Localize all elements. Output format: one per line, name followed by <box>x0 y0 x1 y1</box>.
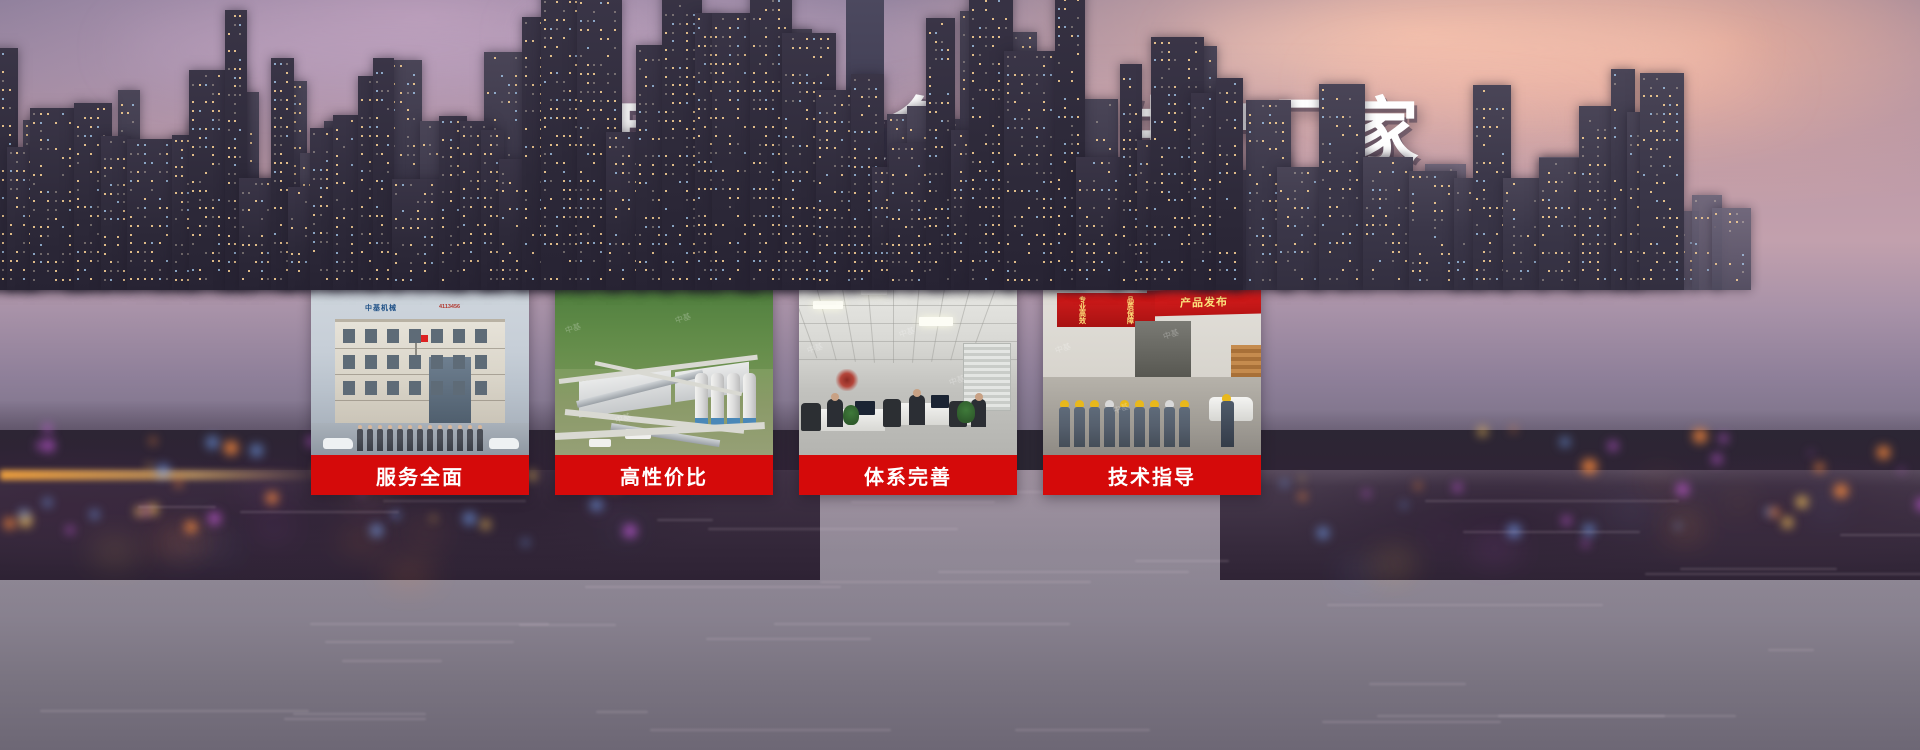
window-light <box>97 144 99 146</box>
window-light <box>40 191 42 193</box>
window-light <box>1392 233 1394 235</box>
window-light <box>2 215 4 217</box>
window-light <box>234 200 236 202</box>
window-light <box>1663 130 1665 132</box>
window-light <box>896 119 898 121</box>
window-light <box>413 154 415 156</box>
window-light <box>679 23 681 25</box>
window-light <box>501 75 503 77</box>
window-light <box>33 261 35 263</box>
window-light <box>580 180 582 182</box>
window-light <box>1715 263 1717 265</box>
window-light <box>614 118 616 120</box>
window-light <box>376 135 378 137</box>
window-light <box>457 147 459 149</box>
window-light <box>772 278 774 280</box>
window-light <box>686 155 688 157</box>
window-light <box>286 81 288 83</box>
window-light <box>848 200 850 202</box>
window-light <box>40 139 42 141</box>
window-light <box>218 93 220 95</box>
window-light <box>166 171 168 173</box>
window-light <box>1604 243 1606 245</box>
window-light <box>1434 176 1436 178</box>
window-light <box>212 207 214 209</box>
window-light <box>1294 269 1296 271</box>
window-light <box>255 200 257 202</box>
window-light <box>1589 181 1591 183</box>
window-light <box>1489 207 1491 209</box>
window-light <box>679 243 681 245</box>
window-light <box>502 173 504 175</box>
window-light <box>1614 198 1616 200</box>
window-light <box>765 72 767 74</box>
window-light <box>291 218 293 220</box>
window-light <box>628 172 630 174</box>
window-light <box>137 278 139 280</box>
window-light <box>305 235 307 237</box>
window-light <box>704 45 706 47</box>
window-light <box>609 269 611 271</box>
window-light <box>26 134 28 136</box>
window-light <box>274 242 276 244</box>
window-light <box>532 93 534 95</box>
window-light <box>457 130 459 132</box>
window-light <box>1669 104 1671 106</box>
window-light <box>1483 198 1485 200</box>
window-light <box>854 218 856 220</box>
window-light <box>23 215 25 217</box>
window-light <box>525 84 527 86</box>
window-light <box>799 91 801 93</box>
window-light <box>729 99 731 101</box>
window-light <box>525 128 527 130</box>
window-light <box>1663 226 1665 228</box>
window-light <box>698 152 700 154</box>
window-light <box>563 180 565 182</box>
window-light <box>1385 189 1387 191</box>
window-light <box>834 104 836 106</box>
window-light <box>813 278 815 280</box>
window-light <box>819 226 821 228</box>
window-light <box>848 121 850 123</box>
window-light <box>326 205 328 207</box>
window-light <box>1574 190 1576 192</box>
window-light <box>778 197 780 199</box>
window-light <box>1561 252 1563 254</box>
window-light <box>376 99 378 101</box>
window-light <box>556 144 558 146</box>
window-light <box>550 37 552 39</box>
window-light <box>556 162 558 164</box>
window-light <box>10 260 12 262</box>
window-light <box>532 252 534 254</box>
window-light <box>55 148 57 150</box>
window-light <box>759 162 761 164</box>
window-light <box>1604 137 1606 139</box>
window-light <box>387 108 389 110</box>
window-light <box>239 85 241 87</box>
window-light <box>665 76 667 78</box>
window-light <box>1701 217 1703 219</box>
window-light <box>47 235 49 237</box>
window-light <box>593 11 595 13</box>
window-light <box>294 173 296 175</box>
window-light <box>199 199 201 201</box>
window-light <box>494 119 496 121</box>
window-light <box>515 75 517 77</box>
window-light <box>1322 116 1324 118</box>
window-light <box>792 82 794 84</box>
window-light <box>848 165 850 167</box>
window-light <box>556 99 558 101</box>
window-light <box>423 144 425 146</box>
window-light <box>686 84 688 86</box>
window-light <box>792 269 794 271</box>
window-light <box>737 260 739 262</box>
window-light <box>77 269 79 271</box>
window-light <box>890 119 892 121</box>
window-light <box>218 163 220 165</box>
window-light <box>861 226 863 228</box>
window-light <box>1419 176 1421 178</box>
window-light <box>1269 114 1271 116</box>
window-light <box>413 74 415 76</box>
window-light <box>737 215 739 217</box>
window-light <box>110 218 112 220</box>
window-light <box>813 136 815 138</box>
window-light <box>1392 260 1394 262</box>
window-light <box>1676 217 1678 219</box>
window-light <box>737 197 739 199</box>
window-light <box>23 242 25 244</box>
window-light <box>729 188 731 190</box>
window-light <box>1568 270 1570 272</box>
window-light <box>166 260 168 262</box>
window-light <box>698 18 700 20</box>
window-light <box>834 130 836 132</box>
window-light <box>463 135 465 137</box>
window-light <box>645 155 647 157</box>
window-light <box>544 37 546 39</box>
window-light <box>1426 262 1428 264</box>
window-light <box>550 243 552 245</box>
window-light <box>166 180 168 182</box>
window-light <box>336 199 338 201</box>
window-light <box>729 278 731 280</box>
window-light <box>442 156 444 158</box>
window-light <box>1398 189 1400 191</box>
window-light <box>77 180 79 182</box>
window-light <box>1656 139 1658 141</box>
window-light <box>1294 243 1296 245</box>
window-light <box>652 243 654 245</box>
window-light <box>525 57 527 59</box>
window-light <box>854 88 856 90</box>
window-light <box>715 126 717 128</box>
window-light <box>166 234 168 236</box>
window-light <box>457 165 459 167</box>
window-light <box>1249 200 1251 202</box>
window-light <box>23 179 25 181</box>
window-light <box>477 144 479 146</box>
window-light <box>1542 199 1544 201</box>
window-light <box>532 84 534 86</box>
window-light <box>834 226 836 228</box>
window-light <box>117 193 119 195</box>
window-light <box>1676 87 1678 89</box>
window-light <box>600 91 602 93</box>
window-light <box>544 234 546 236</box>
window-light <box>715 117 717 119</box>
window-light <box>69 157 71 159</box>
window-light <box>698 215 700 217</box>
window-light <box>205 137 207 139</box>
window-light <box>772 153 774 155</box>
window-light <box>1294 198 1296 200</box>
window-light <box>175 244 177 246</box>
window-light <box>902 119 904 121</box>
window-light <box>361 251 363 253</box>
window-light <box>813 225 815 227</box>
window-light <box>639 94 641 96</box>
window-light <box>772 126 774 128</box>
window-light <box>351 208 353 210</box>
window-light <box>104 270 106 272</box>
window-light <box>698 251 700 253</box>
window-light <box>1372 198 1374 200</box>
window-light <box>502 217 504 219</box>
window-light <box>2 107 4 109</box>
window-light <box>715 36 717 38</box>
window-light <box>792 260 794 262</box>
window-light <box>144 153 146 155</box>
window-light <box>144 144 146 146</box>
window-light <box>813 118 815 120</box>
window-light <box>854 183 856 185</box>
window-light <box>417 253 419 255</box>
window-light <box>192 146 194 148</box>
window-light <box>826 139 828 141</box>
window-light <box>737 108 739 110</box>
window-light <box>336 138 338 140</box>
window-light <box>2 98 4 100</box>
window-light <box>1269 148 1271 150</box>
window-light <box>450 174 452 176</box>
window-light <box>343 270 345 272</box>
window-light <box>450 235 452 237</box>
window-light <box>274 162 276 164</box>
window-light <box>587 73 589 75</box>
window-light <box>442 209 444 211</box>
window-light <box>580 73 582 75</box>
window-light <box>23 278 25 280</box>
window-light <box>785 260 787 262</box>
window-light <box>77 278 79 280</box>
window-light <box>326 187 328 189</box>
window-light <box>199 181 201 183</box>
building <box>333 115 360 290</box>
window-light <box>123 201 125 203</box>
window-light <box>765 215 767 217</box>
window-light <box>395 279 397 281</box>
window-light <box>665 58 667 60</box>
window-light <box>1457 209 1459 211</box>
window-light <box>1597 137 1599 139</box>
window-light <box>799 207 801 209</box>
window-light <box>698 260 700 262</box>
window-light <box>199 84 201 86</box>
window-light <box>1513 278 1515 280</box>
window-light <box>181 140 183 142</box>
window-light <box>1555 270 1557 272</box>
window-light <box>715 152 717 154</box>
window-light <box>484 180 486 182</box>
window-light <box>658 278 660 280</box>
window-light <box>1426 176 1428 178</box>
window-light <box>737 269 739 271</box>
window-light <box>361 144 363 146</box>
window-light <box>181 279 183 281</box>
window-light <box>841 217 843 219</box>
window-light <box>1356 278 1358 280</box>
window-light <box>457 244 459 246</box>
window-light <box>159 198 161 200</box>
window-light <box>1342 134 1344 136</box>
window-light <box>665 155 667 157</box>
window-light <box>792 100 794 102</box>
window-light <box>963 16 965 18</box>
window-light <box>785 251 787 253</box>
window-light <box>212 101 214 103</box>
window-light <box>607 100 609 102</box>
window-light <box>1620 278 1622 280</box>
window-light <box>792 233 794 235</box>
window-light <box>819 235 821 237</box>
window-light <box>729 45 731 47</box>
window-light <box>614 11 616 13</box>
window-light <box>799 242 801 244</box>
window-light <box>563 99 565 101</box>
window-light <box>544 225 546 227</box>
window-light <box>1412 176 1414 178</box>
window-light <box>580 55 582 57</box>
window-light <box>1262 105 1264 107</box>
window-light <box>450 270 452 272</box>
window-light <box>1476 126 1478 128</box>
window-light <box>234 112 236 114</box>
window-light <box>130 180 132 182</box>
window-light <box>665 243 667 245</box>
window-light <box>1555 181 1557 183</box>
window-light <box>622 172 624 174</box>
window-light <box>658 226 660 228</box>
window-light <box>424 193 426 195</box>
window-light <box>785 269 787 271</box>
window-light <box>280 99 282 101</box>
window-light <box>69 165 71 167</box>
window-light <box>1280 251 1282 253</box>
window-light <box>1650 191 1652 193</box>
window-light <box>199 137 201 139</box>
window-light <box>1262 279 1264 281</box>
window-light <box>303 167 305 169</box>
window-light <box>1322 179 1324 181</box>
window-light <box>1542 252 1544 254</box>
window-light <box>407 92 409 94</box>
window-light <box>55 270 57 272</box>
window-light <box>1707 252 1709 254</box>
window-light <box>442 217 444 219</box>
window-light <box>1329 242 1331 244</box>
window-light <box>1630 135 1632 137</box>
window-light <box>556 28 558 30</box>
window-light <box>40 226 42 228</box>
window-light <box>1676 113 1678 115</box>
window-light <box>672 128 674 130</box>
window-light <box>826 209 828 211</box>
window-light <box>609 260 611 262</box>
window-light <box>294 95 296 97</box>
window-light <box>792 74 794 76</box>
window-light <box>854 270 856 272</box>
window-light <box>813 56 815 58</box>
window-light <box>737 18 739 20</box>
window-light <box>532 146 534 148</box>
window-light <box>1729 230 1731 232</box>
window-light <box>516 208 518 210</box>
window-light <box>686 146 688 148</box>
window-light <box>212 163 214 165</box>
window-light <box>442 279 444 281</box>
window-light <box>261 235 263 237</box>
window-light <box>1589 120 1591 122</box>
window-light <box>515 92 517 94</box>
window-light <box>1329 116 1331 118</box>
window-light <box>97 260 99 262</box>
window-light <box>250 133 252 135</box>
window-light <box>1604 129 1606 131</box>
window-light <box>33 270 35 272</box>
window-light <box>614 100 616 102</box>
window-light <box>652 59 654 61</box>
window-light <box>645 120 647 122</box>
window-light <box>861 252 863 254</box>
window-light <box>1392 251 1394 253</box>
window-light <box>1483 269 1485 271</box>
window-light <box>1282 122 1284 124</box>
window-light <box>834 147 836 149</box>
window-light <box>110 210 112 212</box>
window-light <box>192 84 194 86</box>
window-light <box>737 81 739 83</box>
window-light <box>704 108 706 110</box>
window-light <box>77 206 79 208</box>
window-light <box>556 72 558 74</box>
window-light <box>820 47 822 49</box>
window-light <box>744 36 746 38</box>
window-light <box>1457 261 1459 263</box>
window-light <box>97 233 99 235</box>
window-light <box>550 55 552 57</box>
window-light <box>1314 216 1316 218</box>
window-light <box>785 171 787 173</box>
window-light <box>556 135 558 137</box>
window-light <box>672 14 674 16</box>
window-light <box>1663 200 1665 202</box>
window-light <box>1506 192 1508 194</box>
window-light <box>1630 233 1632 235</box>
